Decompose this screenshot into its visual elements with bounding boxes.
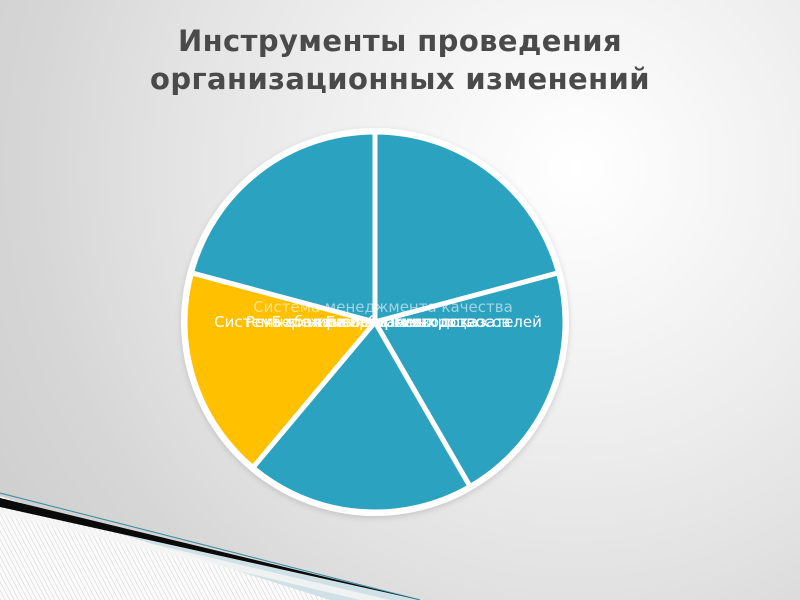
pie-chart-svg[interactable] — [178, 125, 572, 519]
page-title-line-1: Инструменты проведения — [60, 22, 740, 60]
slide-canvas: Инструменты проведения организационных и… — [0, 0, 800, 600]
page-title-line-2: организационных изменений — [60, 60, 740, 98]
pie-chart[interactable]: Бенчмаркинг Реинжиниринг бизнес-процессо… — [178, 125, 572, 519]
page-title: Инструменты проведения организационных и… — [60, 22, 740, 98]
pie-slice-group[interactable] — [181, 128, 569, 516]
deco-white-sliver — [0, 508, 390, 600]
